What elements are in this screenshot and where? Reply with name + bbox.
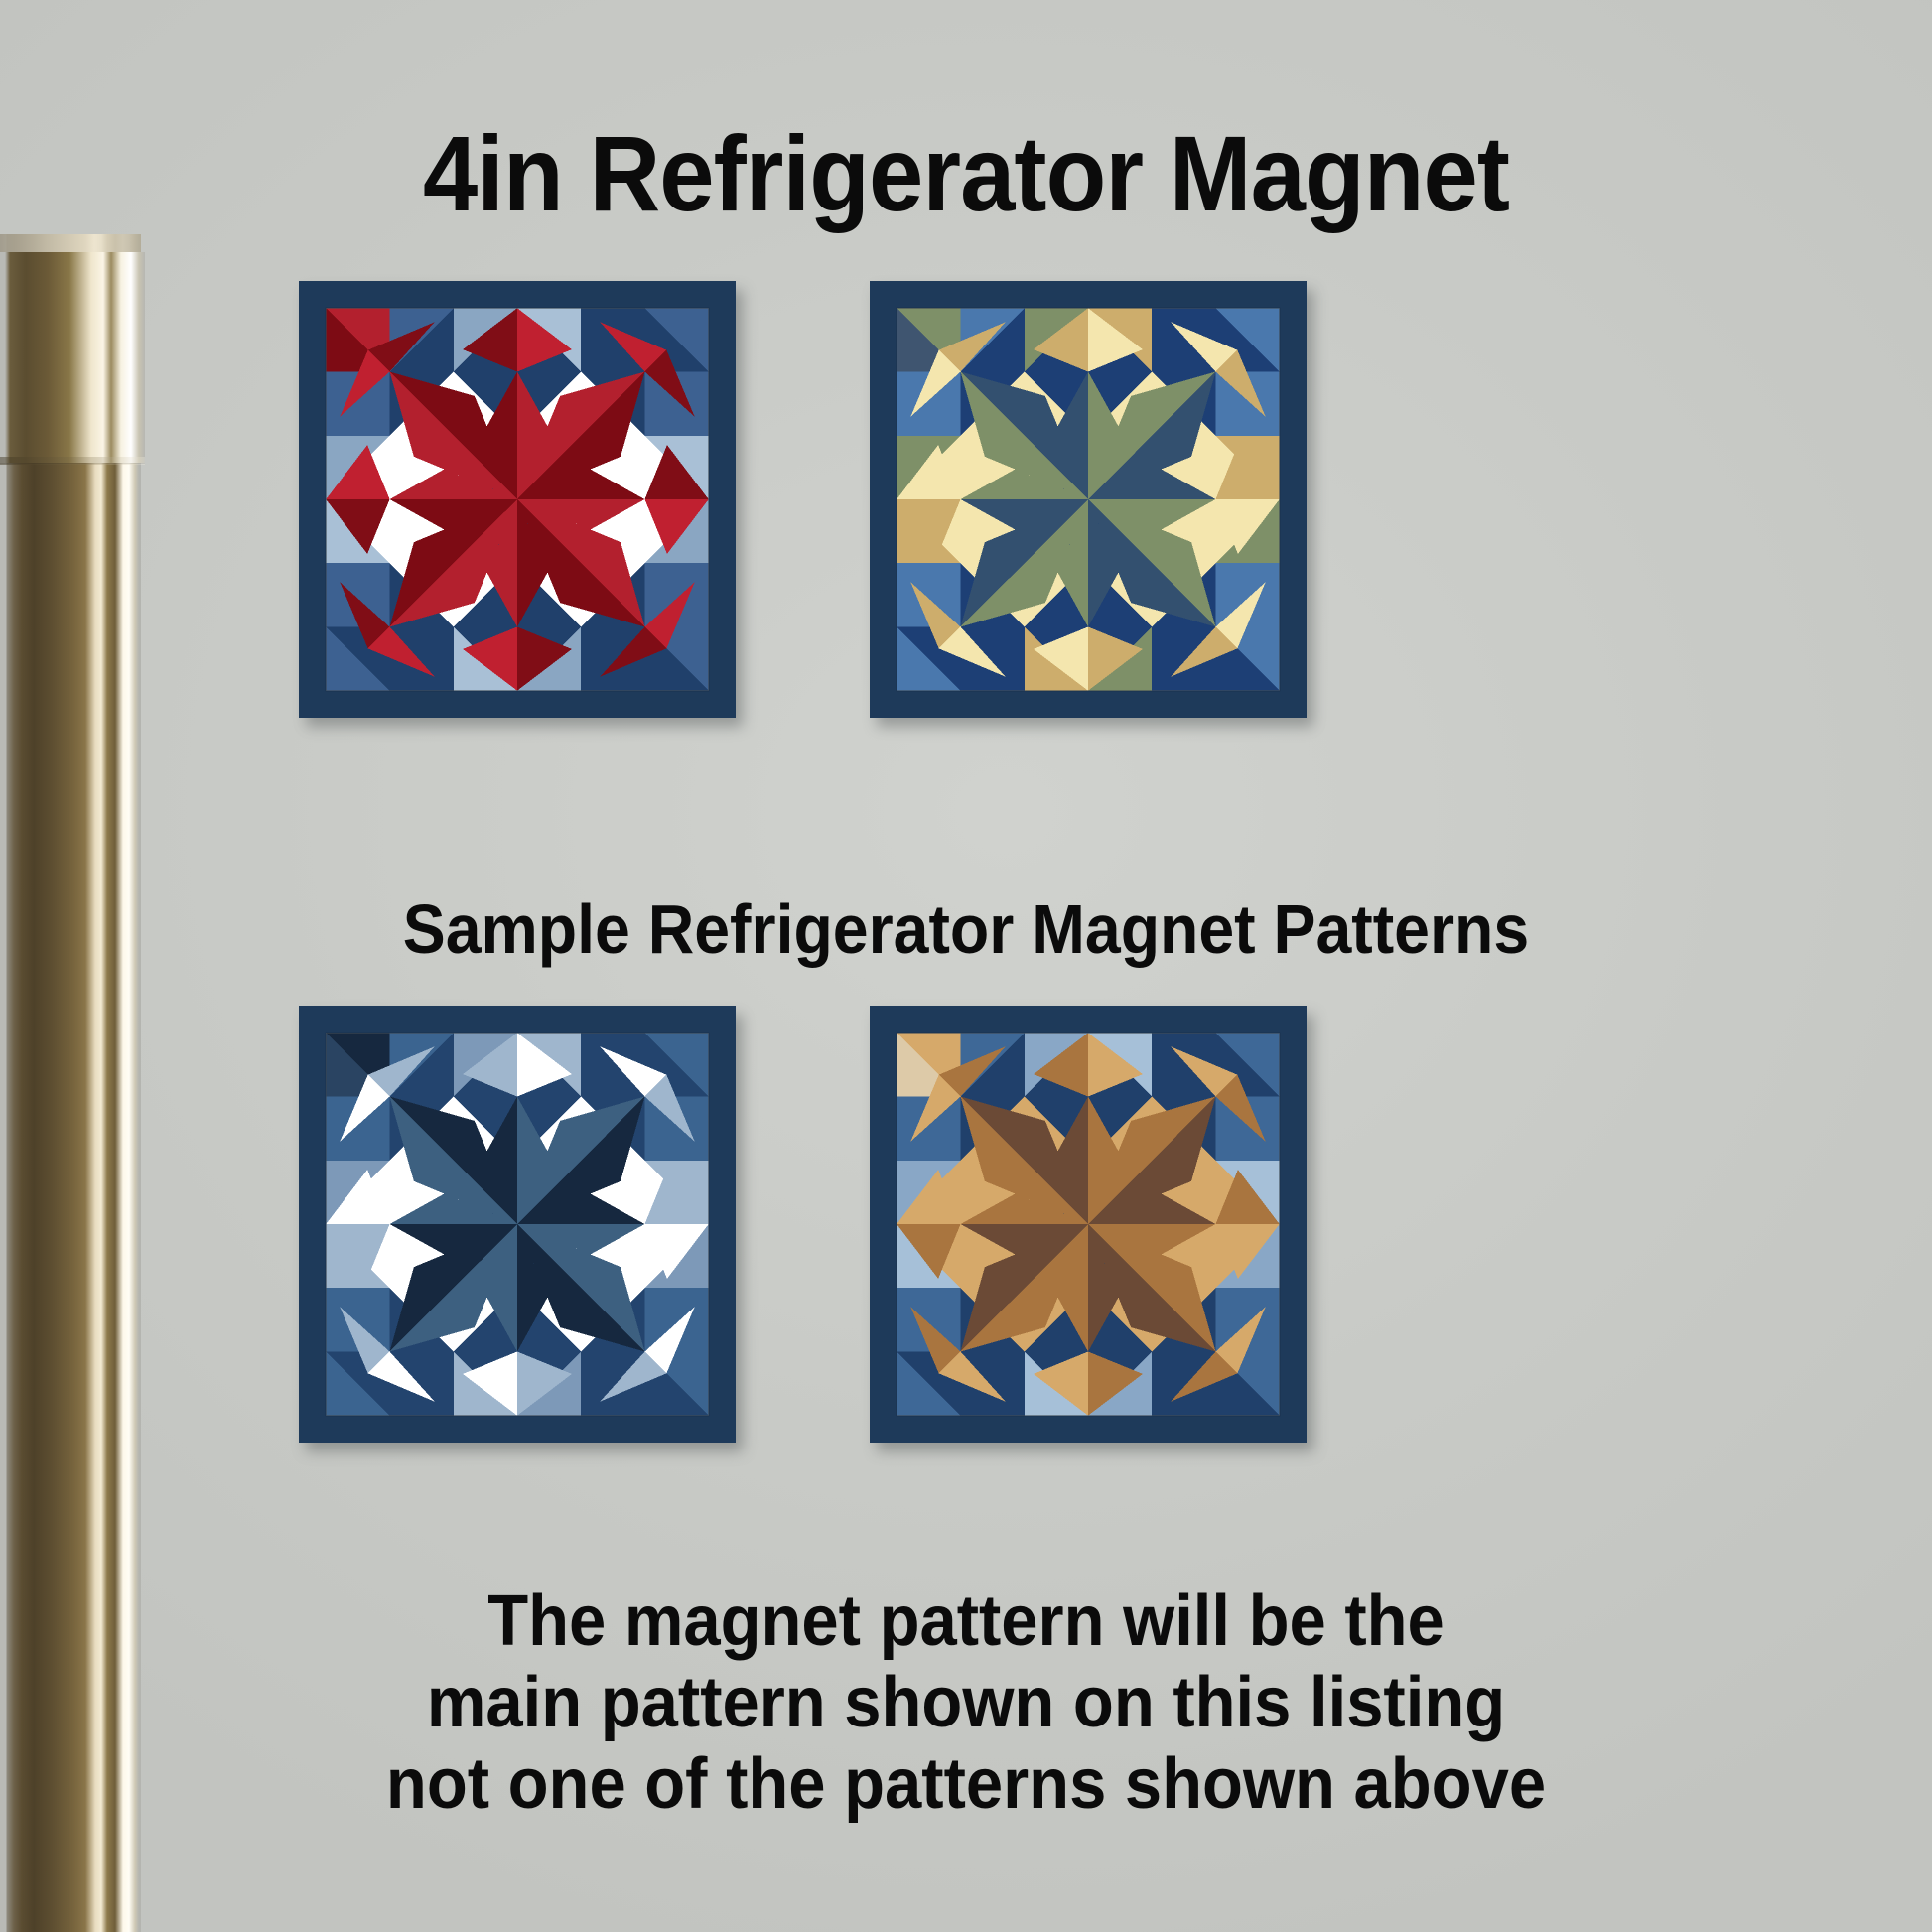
quilt-block-monochrome-blue-art — [298, 1006, 737, 1443]
quilt-block-brown-tan-blue-art — [869, 1006, 1308, 1443]
quilt-block-red-white-blue-art — [298, 281, 737, 718]
disclaimer-line-1: The magnet pattern will be the — [68, 1581, 1864, 1662]
brass-handle-cap — [0, 234, 141, 252]
quilt-block-cream-green-tan-art — [869, 281, 1308, 718]
quilt-block-brown-tan-blue[interactable] — [869, 1006, 1308, 1443]
disclaimer-caption: The magnet pattern will be the main patt… — [68, 1581, 1864, 1825]
quilt-block-red-white-blue[interactable] — [298, 281, 737, 718]
brass-handle-collar — [0, 252, 145, 463]
brass-handle-collar-edge — [0, 457, 145, 465]
page-title: 4in Refrigerator Magnet — [77, 117, 1855, 229]
quilt-block-monochrome-blue[interactable] — [298, 1006, 737, 1443]
disclaimer-line-3: not one of the patterns shown above — [68, 1743, 1864, 1825]
disclaimer-line-2: main pattern shown on this listing — [68, 1662, 1864, 1743]
sample-patterns-caption: Sample Refrigerator Magnet Patterns — [77, 894, 1855, 967]
quilt-block-cream-green-tan[interactable] — [869, 281, 1308, 718]
product-listing-image: 4in Refrigerator Magnet Sample Refrigera… — [0, 0, 1932, 1932]
